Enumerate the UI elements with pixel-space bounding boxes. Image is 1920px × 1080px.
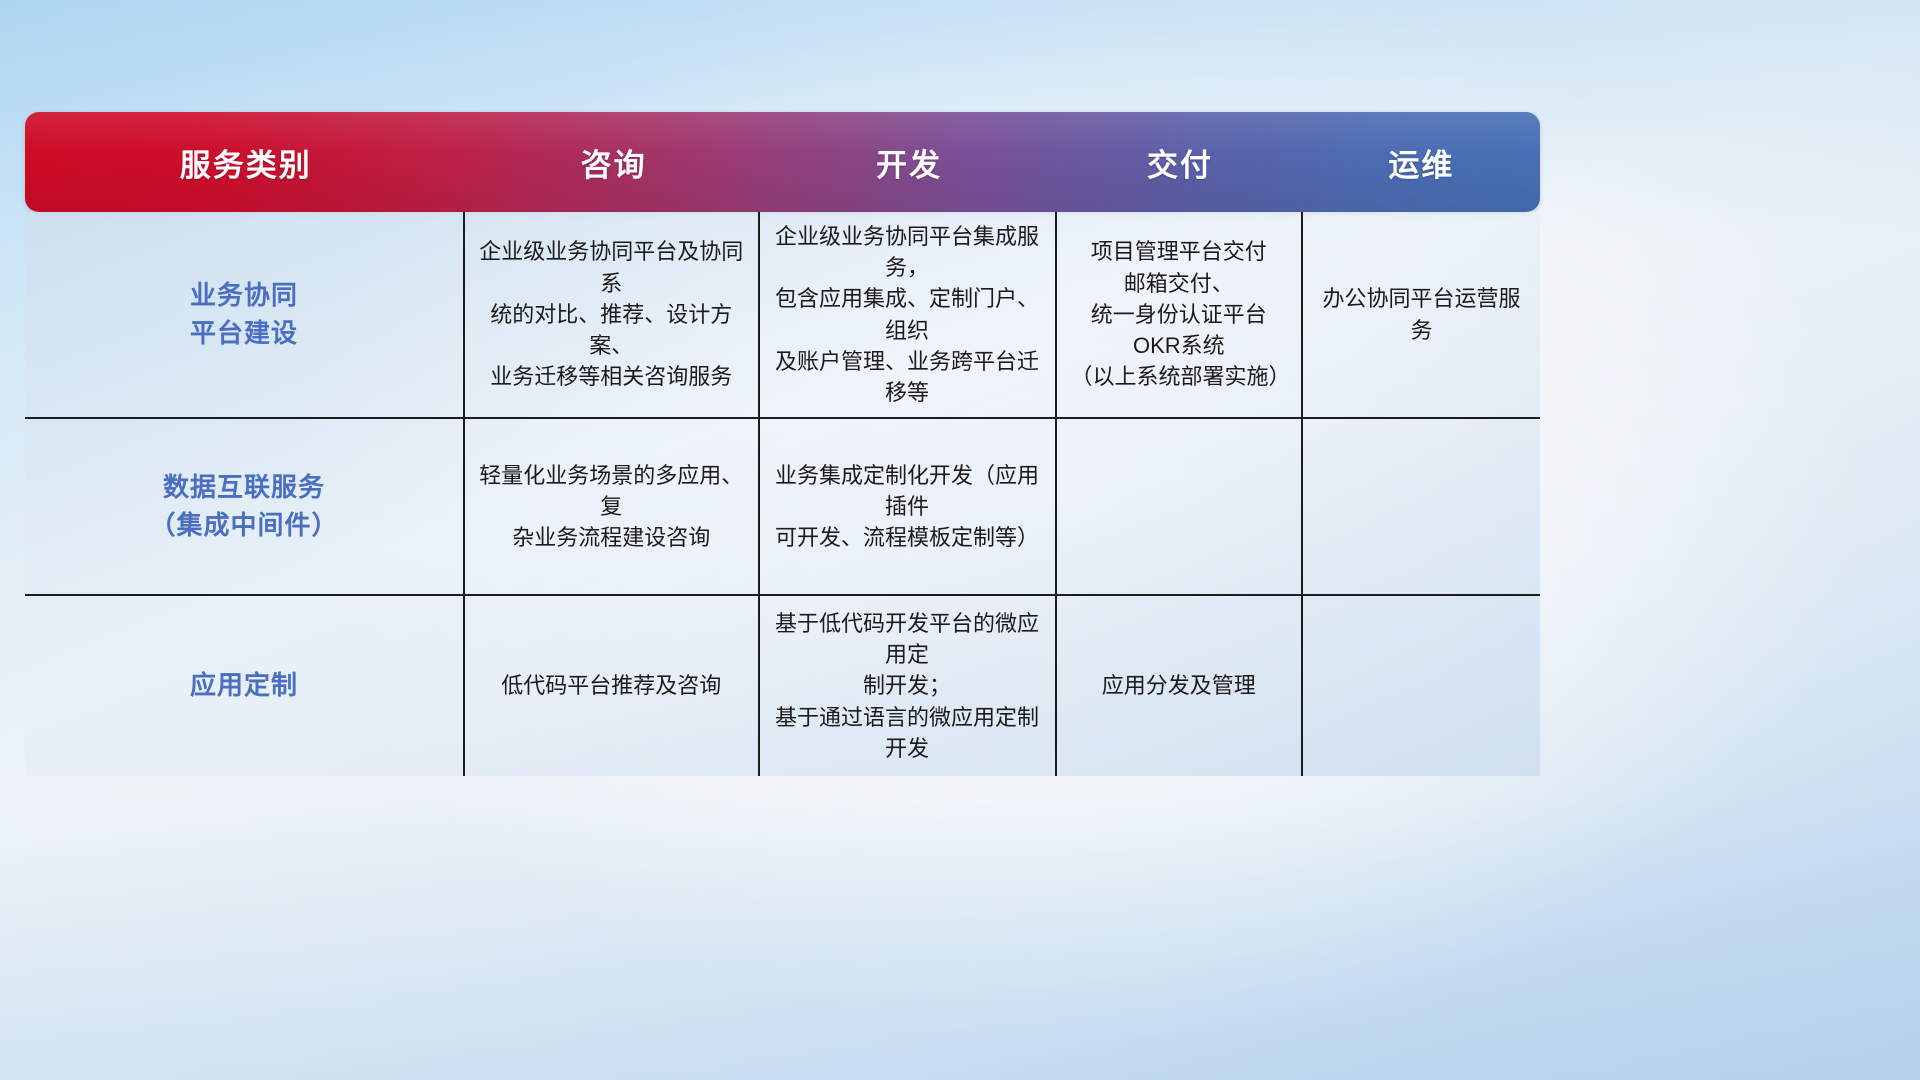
table-row: 业务协同 平台建设 企业级业务协同平台及协同系 统的对比、推荐、设计方案、 业务… — [25, 212, 1540, 417]
column-header-category: 服务类别 — [25, 140, 466, 185]
column-header-development: 开发 — [761, 140, 1058, 185]
cell-development-row1: 企业级业务协同平台集成服务， 包含应用集成、定制门户、组织 及账户管理、业务跨平… — [758, 212, 1055, 417]
cell-consulting-row3: 低代码平台推荐及咨询 — [463, 596, 758, 776]
row-label-data-integration: 数据互联服务 （集成中间件） — [25, 419, 463, 594]
table-header-row: 服务类别 咨询 开发 交付 运维 — [25, 112, 1540, 212]
cell-development-row2: 业务集成定制化开发（应用插件 可开发、流程模板定制等） — [758, 419, 1055, 594]
cell-consulting-row2: 轻量化业务场景的多应用、复 杂业务流程建设咨询 — [463, 419, 758, 594]
cell-consulting-row1: 企业级业务协同平台及协同系 统的对比、推荐、设计方案、 业务迁移等相关咨询服务 — [463, 212, 758, 417]
cell-operations-row2 — [1301, 419, 1540, 594]
cell-operations-row1: 办公协同平台运营服务 — [1301, 212, 1540, 417]
cell-development-row3: 基于低代码开发平台的微应用定 制开发； 基于通过语言的微应用定制开发 — [758, 596, 1055, 776]
table-row: 数据互联服务 （集成中间件） 轻量化业务场景的多应用、复 杂业务流程建设咨询 业… — [25, 417, 1540, 594]
service-matrix-table: 服务类别 咨询 开发 交付 运维 业务协同 平台建设 企业级业务协同平台及协同系… — [25, 112, 1540, 776]
column-header-delivery: 交付 — [1057, 140, 1302, 185]
cell-delivery-row3: 应用分发及管理 — [1055, 596, 1302, 776]
row-label-app-customization: 应用定制 — [25, 596, 463, 776]
row-label-business-collaboration: 业务协同 平台建设 — [25, 212, 463, 417]
cell-delivery-row2 — [1055, 419, 1302, 594]
table-body: 业务协同 平台建设 企业级业务协同平台及协同系 统的对比、推荐、设计方案、 业务… — [25, 212, 1540, 776]
table-row: 应用定制 低代码平台推荐及咨询 基于低代码开发平台的微应用定 制开发； 基于通过… — [25, 594, 1540, 776]
cell-delivery-row1: 项目管理平台交付 邮箱交付、 统一身份认证平台 OKR系统 （以上系统部署实施） — [1055, 212, 1302, 417]
column-header-consulting: 咨询 — [466, 140, 760, 185]
cell-operations-row3 — [1301, 596, 1540, 776]
column-header-operations: 运维 — [1303, 140, 1540, 185]
